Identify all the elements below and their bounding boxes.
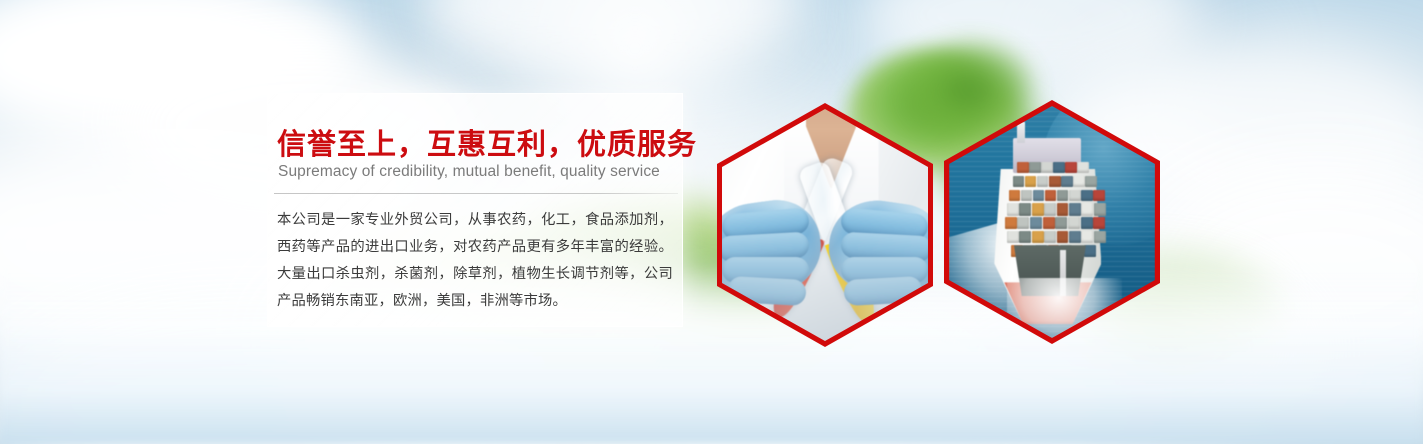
shipping-container [1009, 190, 1021, 202]
shipping-container [1019, 231, 1031, 243]
shipping-container [1017, 162, 1029, 174]
hexagon-frame-laboratory [717, 103, 933, 347]
shipping-container [1007, 231, 1019, 243]
shipping-container [1065, 162, 1077, 174]
shipping-container [1077, 162, 1089, 174]
shipping-container [1044, 203, 1056, 215]
shipping-container [1029, 162, 1041, 174]
shipping-container [1093, 190, 1105, 202]
sky-shade [1190, 40, 1423, 160]
shipping-container [1017, 217, 1029, 229]
shipping-container [1081, 217, 1093, 229]
text-panel: 信誉至上，互惠互利，优质服务 Supremacy of credibility,… [267, 93, 683, 327]
headline: 信誉至上，互惠互利，优质服务 [277, 121, 677, 163]
bow-wave [1007, 278, 1122, 338]
shipping-container [1019, 203, 1031, 215]
shipping-container [1057, 231, 1069, 243]
sky-shade [60, 0, 320, 70]
shipping-container [1021, 190, 1033, 202]
shipping-container [1013, 176, 1025, 188]
shipping-container [1032, 203, 1044, 215]
shipping-container [1081, 190, 1093, 202]
shipping-container [1057, 203, 1069, 215]
shipping-container [1085, 176, 1097, 188]
promotional-banner: 信誉至上，互惠互利，优质服务 Supremacy of credibility,… [0, 0, 1423, 444]
shipping-container [1030, 217, 1042, 229]
shipping-container [1069, 231, 1081, 243]
shipping-container [1037, 176, 1049, 188]
divider [274, 193, 678, 194]
bottom-mist [0, 264, 1423, 444]
photo-shadow [722, 216, 928, 341]
shipping-container [1093, 217, 1105, 229]
hexagon-frame-cargo-ship [944, 100, 1160, 344]
subheadline: Supremacy of credibility, mutual benefit… [278, 163, 678, 181]
shipping-container [1049, 176, 1061, 188]
shipping-container [1081, 231, 1093, 243]
shipping-container [1073, 176, 1085, 188]
shipping-container [1041, 162, 1053, 174]
ship-mast [1017, 122, 1025, 143]
shipping-container [1043, 217, 1055, 229]
sky-shade [1050, 0, 1270, 90]
shipping-container [1094, 203, 1106, 215]
shipping-container [1045, 190, 1057, 202]
shipping-container [1055, 217, 1067, 229]
shipping-container [1025, 176, 1037, 188]
shipping-container [1007, 203, 1019, 215]
shipping-container [1069, 203, 1081, 215]
shipping-container [1044, 231, 1056, 243]
body-copy: 本公司是一家专业外贸公司，从事农药，化工，食品添加剂，西药等产品的进出口业务，对… [277, 207, 673, 315]
shipping-container [1061, 176, 1073, 188]
shipping-container [1033, 190, 1045, 202]
shipping-container [1084, 245, 1096, 257]
shipping-container [1053, 162, 1065, 174]
shipping-container [1057, 190, 1069, 202]
shipping-container [1068, 217, 1080, 229]
shipping-container [1081, 203, 1093, 215]
shipping-container [1069, 190, 1081, 202]
shipping-container [1032, 231, 1044, 243]
shipping-container [1094, 231, 1106, 243]
shipping-container [1005, 217, 1017, 229]
